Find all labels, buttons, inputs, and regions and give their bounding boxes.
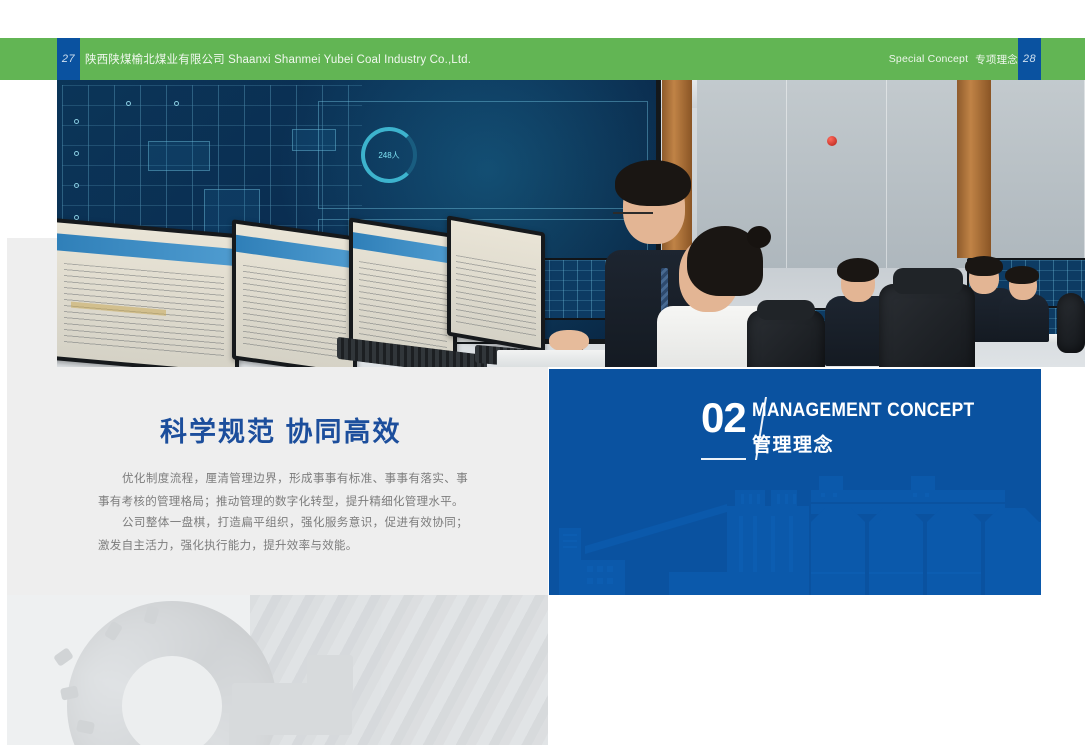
page-number-right: 28: [1018, 38, 1041, 80]
glasses: [613, 212, 653, 214]
diagram-node: [74, 183, 79, 188]
diagram-box: [148, 141, 210, 171]
concept-title-block: MANAGEMENT CONCEPT 管理理念: [752, 400, 994, 457]
body-paragraph-2: 公司整体一盘棋，打造扁平组织，强化服务意识，促进有效协同；激发自主活力，强化执行…: [98, 512, 468, 558]
desk-monitor: [57, 218, 239, 367]
machine-body: [229, 713, 255, 745]
hair-bun: [747, 226, 771, 248]
section-label-cn: 专项理念: [975, 52, 1018, 67]
running-header: 27 28 陕西陕煤榆北煤业有限公司 Shaanxi Shanmei Yubei…: [0, 38, 1085, 80]
gauge-ring: 248人: [361, 127, 417, 183]
bottom-machinery-image: [7, 595, 548, 745]
hero-image-content: 248人: [57, 78, 1085, 367]
machinery-illustration: [7, 595, 548, 745]
desk-monitor: [447, 215, 545, 352]
wall-panel: [787, 78, 887, 268]
control-room-photo: 248人: [57, 78, 1085, 367]
page-title: 科学规范 协同高效: [160, 410, 402, 449]
section-label-en: Special Concept: [889, 53, 968, 65]
wall-panel: [982, 78, 1085, 268]
diagram-node: [126, 101, 131, 106]
machine-body: [307, 655, 353, 693]
alarm-light: [827, 136, 837, 146]
management-concept-panel: 02 MANAGEMENT CONCEPT 管理理念: [549, 369, 1041, 595]
diagram-node: [74, 119, 79, 124]
company-name: 陕西陕煤榆北煤业有限公司 Shaanxi Shanmei Yubei Coal …: [85, 38, 471, 80]
concept-title-en: MANAGEMENT CONCEPT: [752, 400, 974, 423]
drum-pick: [53, 647, 74, 667]
diagram-node: [74, 151, 79, 156]
body-paragraph-1: 优化制度流程，厘清管理边界，形成事事有标准、事事有落实、事事有考核的管理格局；推…: [98, 468, 468, 514]
pillar: [957, 78, 991, 258]
industrial-plant-silhouette: [549, 460, 1041, 595]
section-label: Special Concept 专项理念: [889, 38, 1018, 80]
hand: [549, 330, 589, 352]
hair: [837, 258, 879, 282]
hair: [965, 256, 1003, 276]
diagram-node: [174, 101, 179, 106]
concept-number: 02: [701, 397, 746, 460]
page-number-left: 27: [57, 38, 80, 80]
concept-title-cn: 管理理念: [752, 430, 994, 457]
hair: [615, 160, 691, 206]
suit-jacket: [999, 294, 1049, 342]
hair: [1005, 266, 1039, 284]
